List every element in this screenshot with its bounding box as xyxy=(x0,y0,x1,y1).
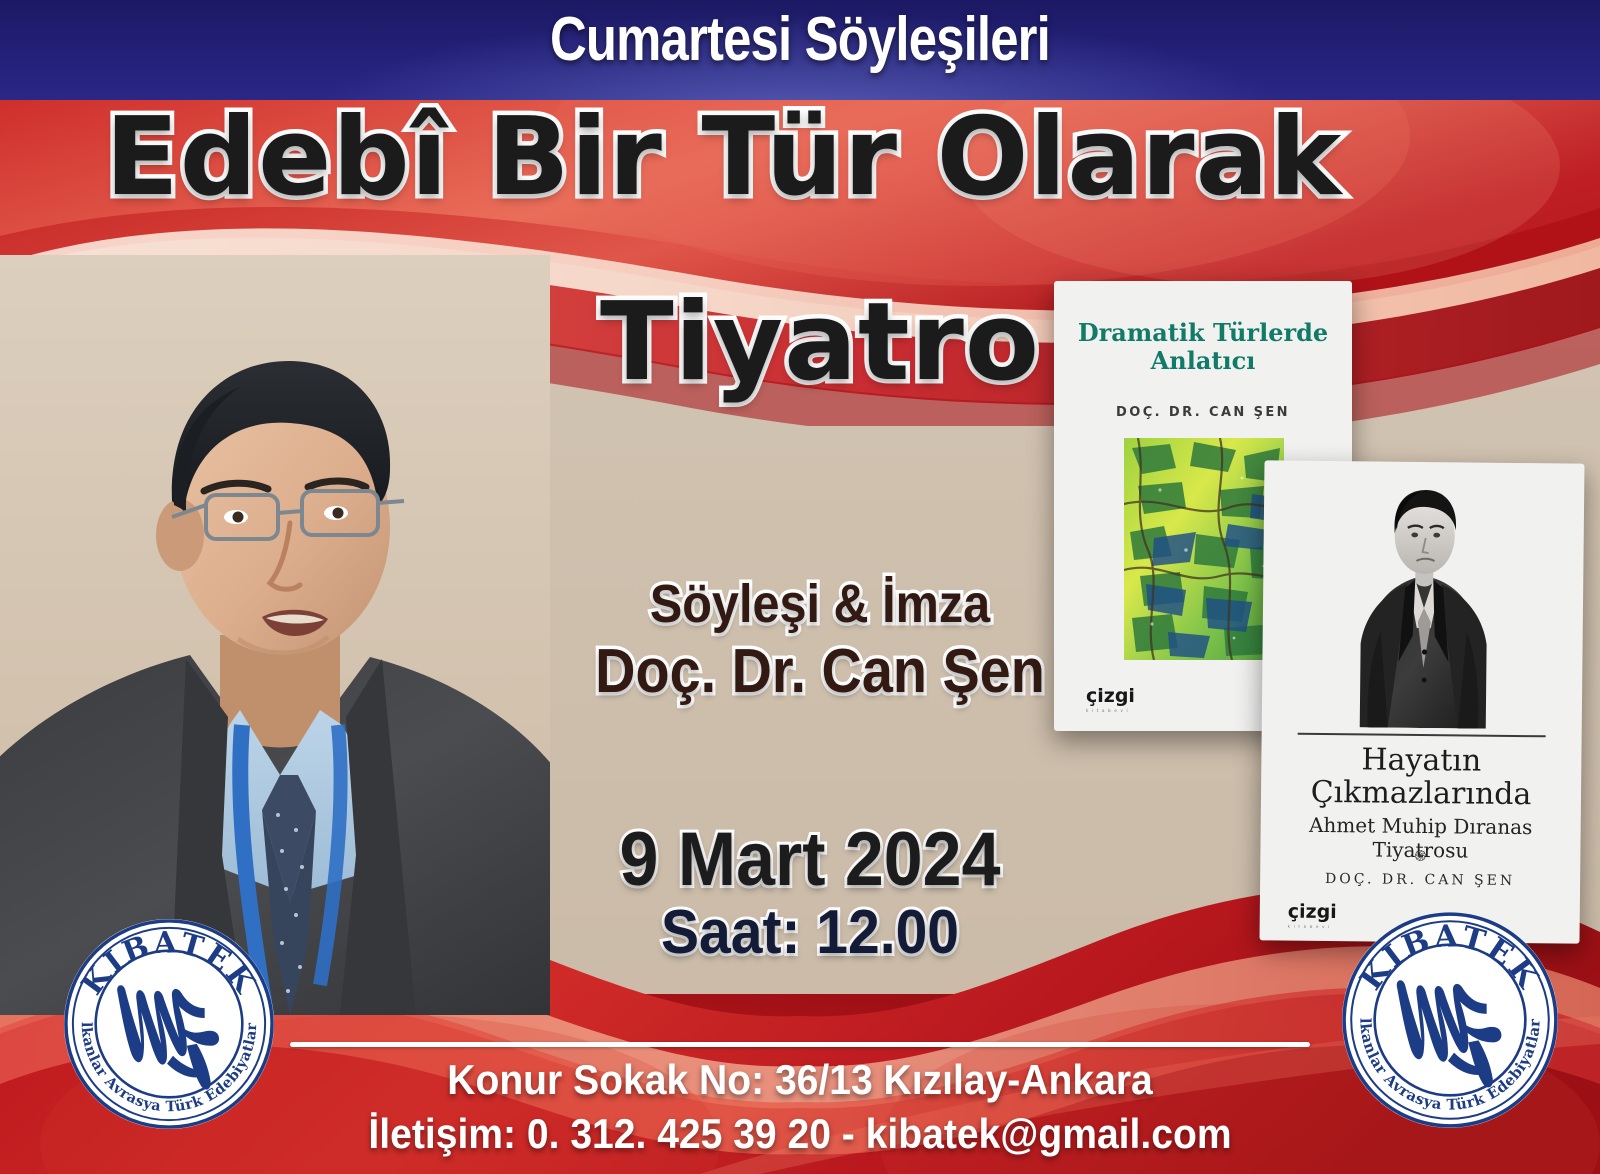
talk-speaker-name: Doç. Dr. Can Şen xyxy=(586,639,1054,706)
event-time: Saat: 12.00 xyxy=(543,901,1077,965)
book-b-ornament: ֍ xyxy=(1260,844,1580,867)
contact-phone-email[interactable]: İletişim: 0. 312. 425 39 20 - kibatek@gm… xyxy=(56,1110,1544,1158)
kibatek-logo-right: KIBATEK Kıbrıs Balkanlar Avrasya Türk Ed… xyxy=(1338,908,1562,1132)
book-b-author: DOÇ. DR. CAN ŞEN xyxy=(1260,870,1580,889)
book-cover-hayatin-cikmazlarinda: Hayatın Çıkmazlarında Ahmet Muhip Dırana… xyxy=(1259,460,1584,943)
talk-info-block: Söyleşi & İmza Doç. Dr. Can Şen xyxy=(560,575,1080,706)
contact-address: Konur Sokak No: 36/13 Kızılay-Ankara xyxy=(56,1056,1544,1104)
book-a-publisher-name: çizgi xyxy=(1086,687,1135,706)
book-b-publisher-logo: çizgi k i t a b e v i xyxy=(1288,903,1337,930)
book-b-title: Hayatın Çıkmazlarında xyxy=(1261,742,1582,811)
header-title: Cumartesi Söyleşileri xyxy=(144,4,1456,75)
book-a-title: Dramatik Türlerde Anlatıcı xyxy=(1054,319,1352,376)
book-a-author: DOÇ. DR. CAN ŞEN xyxy=(1054,405,1352,420)
event-poster: Cumartesi Söyleşileri Edebî Bir Tür Olar… xyxy=(0,0,1600,1174)
contact-divider-line xyxy=(290,1042,1310,1047)
book-b-divider xyxy=(1298,733,1546,738)
event-datetime-block: 9 Mart 2024 Saat: 12.00 xyxy=(520,820,1100,966)
book-b-title-line-1: Hayatın xyxy=(1361,742,1481,778)
poster-header-bar: Cumartesi Söyleşileri xyxy=(0,0,1600,100)
book-a-title-line-1: Dramatik Türlerde xyxy=(1078,318,1328,347)
book-a-title-line-2: Anlatıcı xyxy=(1151,346,1256,375)
event-date: 9 Mart 2024 xyxy=(543,820,1077,899)
book-b-portrait-photo xyxy=(1318,475,1531,729)
book-a-publisher-logo: çizgi k i t a b e v i xyxy=(1086,687,1135,713)
talk-type-label: Söyleşi & İmza xyxy=(586,575,1054,633)
book-a-publisher-sub: k i t a b e v i xyxy=(1086,708,1135,713)
kibatek-logo-left: KIBATEK Kıbrıs Balkanlar Avrasya Türk Ed… xyxy=(60,915,278,1133)
book-b-title-line-2: Çıkmazlarında xyxy=(1311,775,1532,812)
book-a-cover-artwork xyxy=(1124,438,1284,660)
speaker-photograph xyxy=(0,255,550,1015)
book-b-publisher-name: çizgi xyxy=(1288,903,1337,923)
book-b-publisher-sub: k i t a b e v i xyxy=(1288,924,1337,930)
